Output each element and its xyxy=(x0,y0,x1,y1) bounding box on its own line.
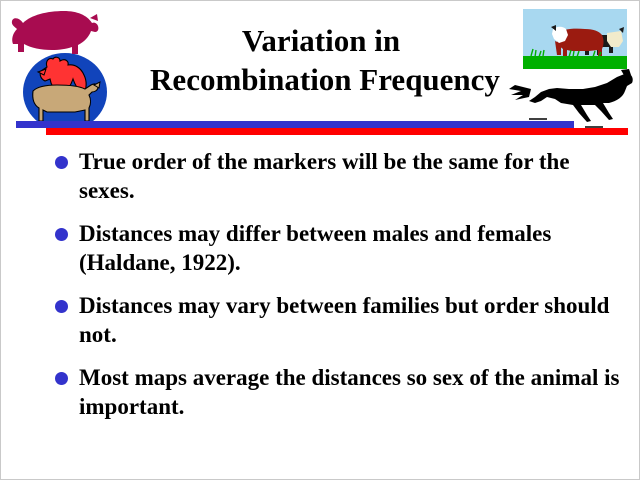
livestock-logo xyxy=(7,5,119,131)
bullet-text: Distances may differ between males and f… xyxy=(79,219,623,277)
bullet-list: True order of the markers will be the sa… xyxy=(51,147,623,421)
cattle-pasture-photo xyxy=(523,9,627,69)
list-item: Distances may differ between males and f… xyxy=(51,219,623,277)
bullet-marker-icon xyxy=(55,372,68,385)
photo-cattle-figures xyxy=(523,9,627,69)
bullet-text: Distances may vary between families but … xyxy=(79,291,623,349)
bullet-text: Most maps average the distances so sex o… xyxy=(79,363,623,421)
title-line-2: Recombination Frequency xyxy=(129,60,521,99)
bullet-marker-icon xyxy=(55,156,68,169)
slide-header: Variation in Recombination Frequency xyxy=(1,1,640,137)
bullet-marker-icon xyxy=(55,228,68,241)
bullet-marker-icon xyxy=(55,300,68,313)
pig-silhouette-icon xyxy=(9,5,101,61)
list-item: Most maps average the distances so sex o… xyxy=(51,363,623,421)
presentation-slide: Variation in Recombination Frequency Tru… xyxy=(0,0,640,480)
slide-title: Variation in Recombination Frequency xyxy=(121,21,521,99)
list-item: True order of the markers will be the sa… xyxy=(51,147,623,205)
divider-bar-blue xyxy=(16,121,574,128)
bullet-text: True order of the markers will be the sa… xyxy=(79,147,623,205)
divider-bar-red xyxy=(46,128,628,135)
list-item: Distances may vary between families but … xyxy=(51,291,623,349)
title-line-1: Variation in xyxy=(121,21,521,60)
